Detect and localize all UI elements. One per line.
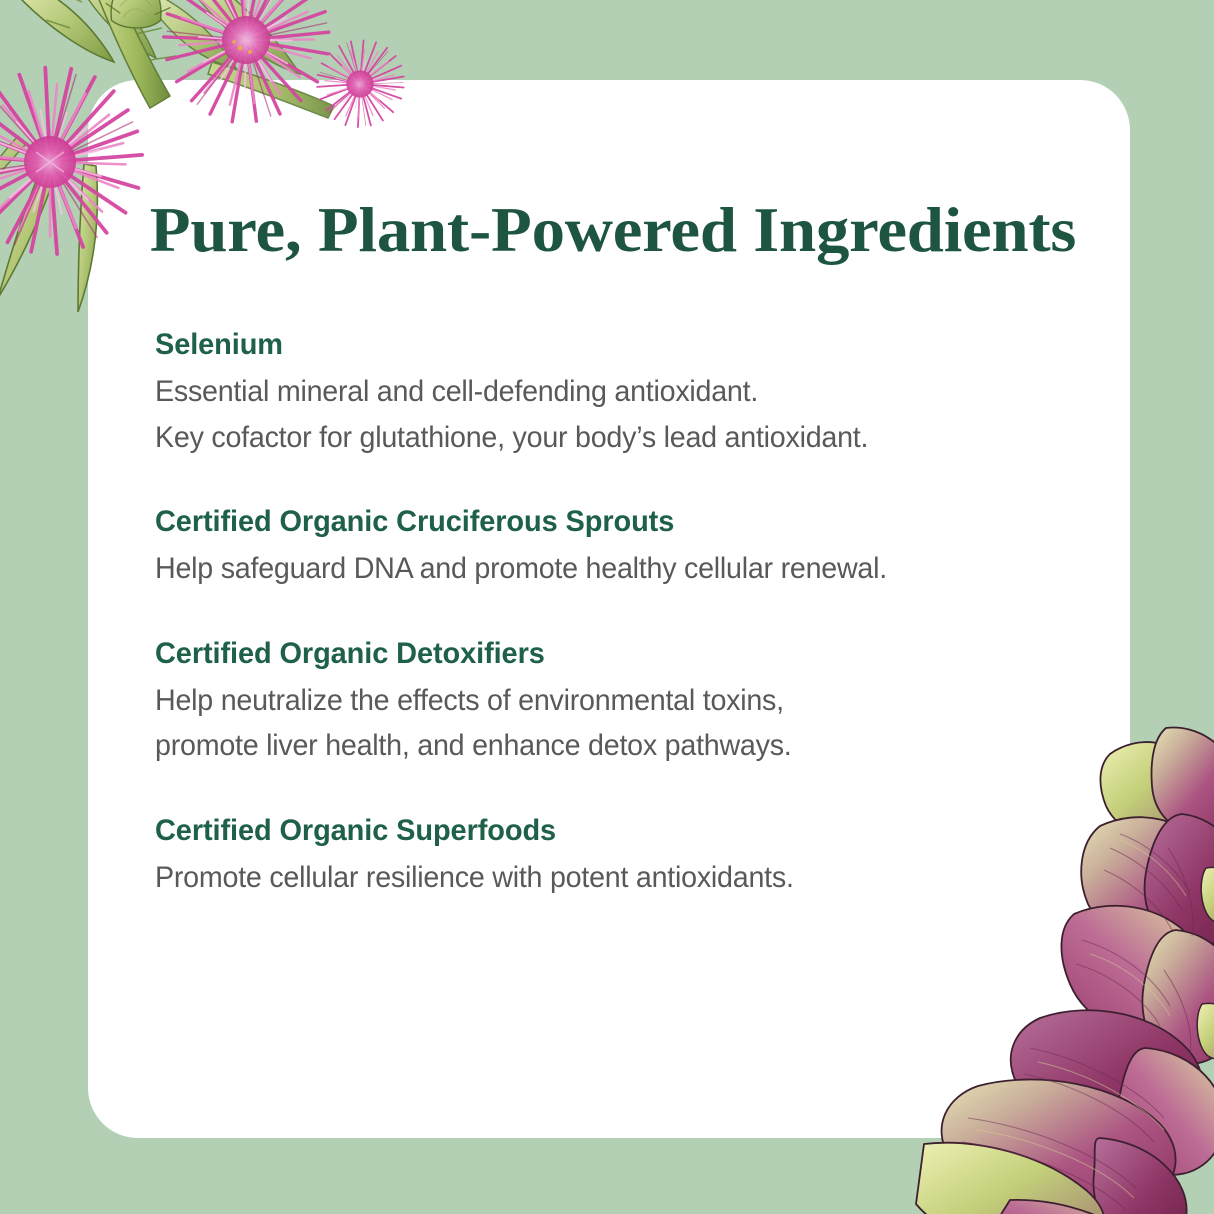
ingredient-description: Promote cellular resilience with potent …: [155, 855, 1043, 901]
ingredient-item: Certified Organic DetoxifiersHelp neutra…: [155, 634, 1085, 769]
ingredients-infographic: Pure, Plant-Powered Ingredients Selenium…: [0, 0, 1214, 1214]
ingredient-description-line: Essential mineral and cell-defending ant…: [155, 369, 1043, 415]
ingredient-item: SeleniumEssential mineral and cell-defen…: [155, 325, 1085, 460]
ingredient-description-line: Help safeguard DNA and promote healthy c…: [155, 546, 1043, 592]
ingredient-description: Help neutralize the effects of environme…: [155, 678, 1043, 769]
thistle-bud: [106, 0, 171, 28]
ingredient-name: Certified Organic Superfoods: [155, 811, 1052, 850]
ingredient-name: Certified Organic Cruciferous Sprouts: [155, 502, 1052, 541]
page-title: Pure, Plant-Powered Ingredients: [131, 198, 1096, 264]
ingredient-name: Certified Organic Detoxifiers: [155, 634, 1052, 673]
ingredient-description: Essential mineral and cell-defending ant…: [155, 369, 1043, 460]
ingredient-item: Certified Organic SuperfoodsPromote cell…: [155, 811, 1085, 901]
ingredient-description-line: promote liver health, and enhance detox …: [155, 723, 1043, 769]
content-card: Pure, Plant-Powered Ingredients Selenium…: [88, 80, 1130, 1138]
ingredient-description-line: Help neutralize the effects of environme…: [155, 678, 1043, 724]
ingredient-item: Certified Organic Cruciferous SproutsHel…: [155, 502, 1085, 592]
ingredient-description-line: Key cofactor for glutathione, your body’…: [155, 415, 1043, 461]
ingredient-name: Selenium: [155, 325, 1052, 364]
ingredient-description: Help safeguard DNA and promote healthy c…: [155, 546, 1043, 592]
ingredient-description-line: Promote cellular resilience with potent …: [155, 855, 1043, 901]
ingredient-list: SeleniumEssential mineral and cell-defen…: [155, 325, 1085, 901]
